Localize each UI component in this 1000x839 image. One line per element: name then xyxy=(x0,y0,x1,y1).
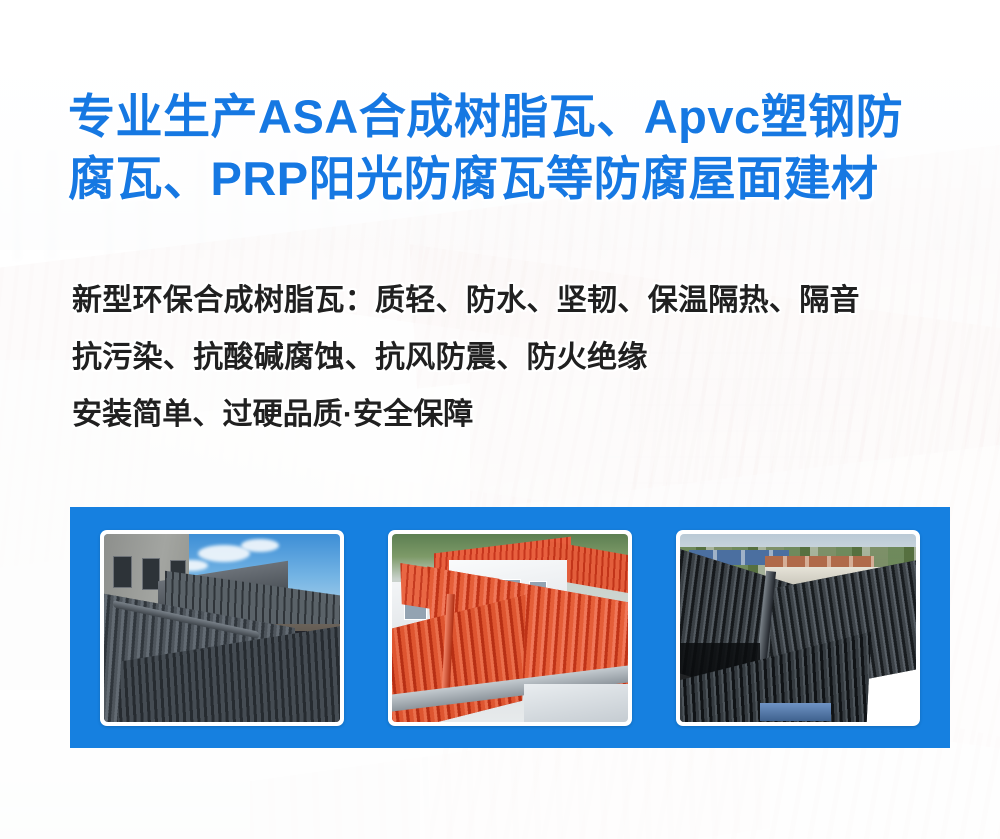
photo-black-resin-tile-roof xyxy=(680,534,916,722)
promo-banner: 专业生产ASA合成树脂瓦、Apvc塑钢防 腐瓦、PRP阳光防腐瓦等防腐屋面建材 … xyxy=(0,0,1000,839)
headline-line-1: 专业生产ASA合成树脂瓦、Apvc塑钢防 xyxy=(68,86,948,148)
photo-frame-2[interactable] xyxy=(388,530,632,726)
photo-grey-resin-tile-roof xyxy=(104,534,340,722)
photo-red-resin-tile-roof xyxy=(392,534,628,722)
photo2-lower-facade xyxy=(524,684,628,722)
subheadline: 新型环保合成树脂瓦：质轻、防水、坚韧、保温隔热、隔音 抗污染、抗酸碱腐蚀、抗风防… xyxy=(72,272,972,443)
subheadline-line-3: 安装简单、过硬品质·安全保障 xyxy=(72,386,972,443)
photo1-window-1 xyxy=(113,556,132,588)
banner-content: 专业生产ASA合成树脂瓦、Apvc塑钢防 腐瓦、PRP阳光防腐瓦等防腐屋面建材 … xyxy=(0,0,1000,839)
photo-frame-1[interactable] xyxy=(100,530,344,726)
headline: 专业生产ASA合成树脂瓦、Apvc塑钢防 腐瓦、PRP阳光防腐瓦等防腐屋面建材 xyxy=(68,86,948,210)
photo-frame-3[interactable] xyxy=(676,530,920,726)
photo3-blue-tarp xyxy=(760,703,831,722)
subheadline-line-2: 抗污染、抗酸碱腐蚀、抗风防震、防火绝缘 xyxy=(72,329,972,386)
subheadline-line-1: 新型环保合成树脂瓦：质轻、防水、坚韧、保温隔热、隔音 xyxy=(72,272,972,329)
headline-line-2: 腐瓦、PRP阳光防腐瓦等防腐屋面建材 xyxy=(68,148,948,210)
photo-gallery-panel xyxy=(70,507,950,748)
